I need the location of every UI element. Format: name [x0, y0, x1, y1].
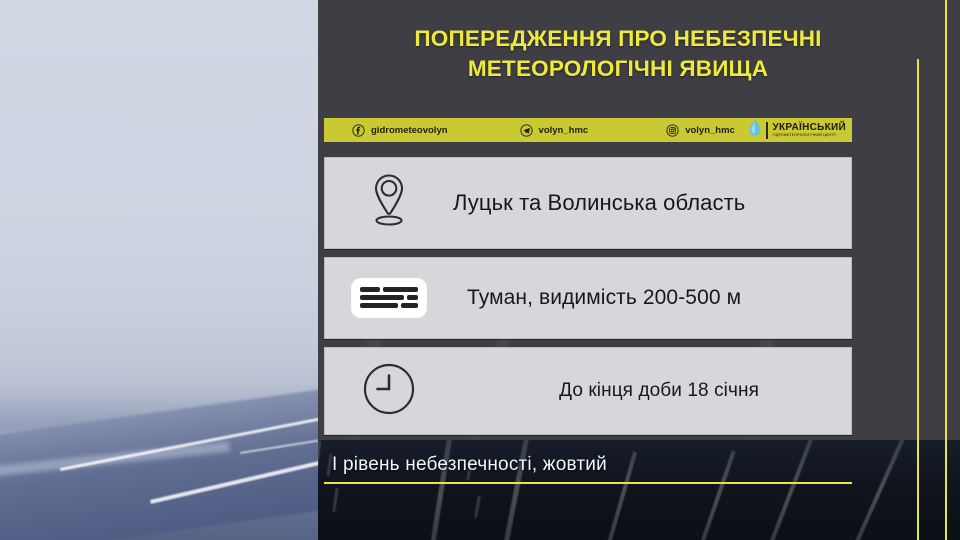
page-title-line-2: МЕТЕОРОЛОГІЧНІ ЯВИЩА — [338, 54, 898, 84]
social-account-telegram[interactable]: volyn_hmc — [520, 124, 589, 137]
facebook-handle: gidrometeovolyn — [371, 125, 448, 136]
info-card-location: Луцьк та Волинська область — [324, 157, 852, 249]
yellow-vertical-rule-outer — [945, 0, 947, 540]
card-icon-slot — [325, 279, 453, 317]
card-icon-slot — [325, 172, 453, 235]
water-drop-icon — [748, 119, 762, 142]
logo-name: УКРАЇНСЬКИЙ — [772, 123, 846, 133]
logo-text: УКРАЇНСЬКИЙ ГІДРОМЕТЕОРОЛОГІЧНИЙ ЦЕНТР — [772, 123, 846, 138]
weather-warning-poster: ПОПЕРЕДЖЕННЯ ПРО НЕБЕЗПЕЧНІ МЕТЕОРОЛОГІЧ… — [0, 0, 960, 540]
clock-icon — [362, 362, 416, 421]
card-time-text: До кінця доби 18 січня — [453, 380, 851, 402]
instagram-icon — [666, 124, 679, 137]
yellow-vertical-rule-inner — [917, 59, 919, 540]
logo-divider — [766, 122, 768, 139]
organization-logo: УКРАЇНСЬКИЙ ГІДРОМЕТЕОРОЛОГІЧНИЙ ЦЕНТР — [748, 119, 846, 141]
warning-level-footer: I рівень небезпечності, жовтий — [324, 448, 852, 484]
telegram-icon — [520, 124, 533, 137]
page-title: ПОПЕРЕДЖЕННЯ ПРО НЕБЕЗПЕЧНІ МЕТЕОРОЛОГІЧ… — [338, 24, 898, 84]
social-account-instagram[interactable]: volyn_hmc — [666, 124, 735, 137]
location-pin-icon — [366, 172, 412, 235]
social-bar: gidrometeovolyn volyn_hmc — [324, 118, 852, 142]
social-account-facebook[interactable]: gidrometeovolyn — [352, 124, 448, 137]
card-location-text: Луцьк та Волинська область — [453, 190, 851, 216]
fog-icon — [352, 279, 426, 317]
facebook-icon — [352, 124, 365, 137]
card-icon-slot — [325, 362, 453, 421]
logo-subtitle: ГІДРОМЕТЕОРОЛОГІЧНИЙ ЦЕНТР — [772, 134, 846, 137]
info-card-phenomenon: Туман, видимість 200-500 м — [324, 257, 852, 339]
card-phenomenon-text: Туман, видимість 200-500 м — [453, 286, 851, 310]
telegram-handle: volyn_hmc — [539, 125, 589, 136]
warning-level-underline — [324, 482, 852, 484]
foggy-road-photo — [0, 0, 318, 540]
page-title-line-1: ПОПЕРЕДЖЕННЯ ПРО НЕБЕЗПЕЧНІ — [414, 26, 821, 51]
content-panel: ПОПЕРЕДЖЕННЯ ПРО НЕБЕЗПЕЧНІ МЕТЕОРОЛОГІЧ… — [318, 0, 960, 540]
warning-level-text: I рівень небезпечності, жовтий — [324, 448, 852, 482]
info-card-time: До кінця доби 18 січня — [324, 347, 852, 435]
instagram-handle: volyn_hmc — [685, 125, 735, 136]
